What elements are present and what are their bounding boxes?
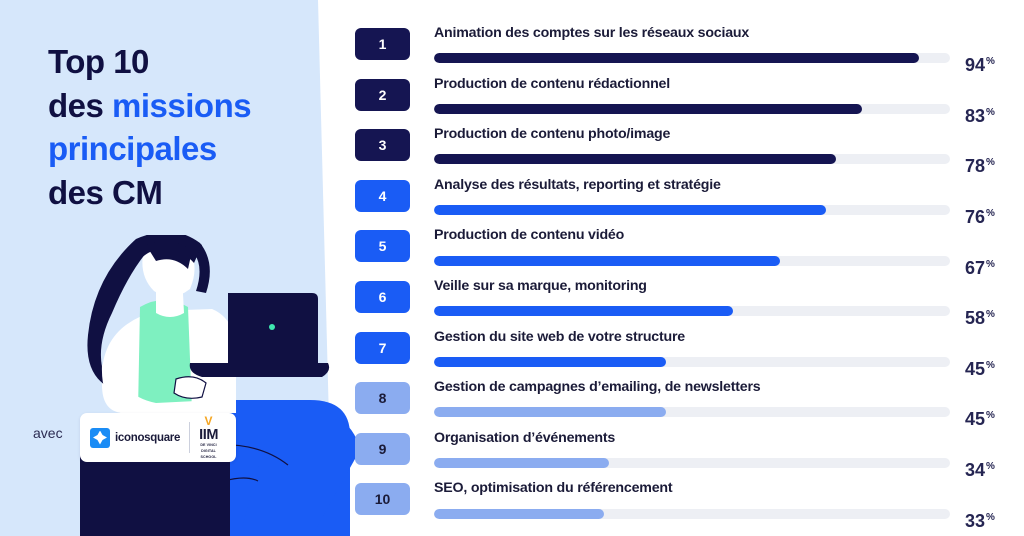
- rank-row: 5Production de contenu vidéo67%: [355, 222, 1024, 273]
- rank-badge: 2: [355, 79, 410, 111]
- percent-symbol: %: [986, 360, 995, 371]
- bar-track: [434, 509, 950, 519]
- bar-track: [434, 306, 950, 316]
- title-line-3: principales: [48, 127, 318, 171]
- bar-fill: [434, 205, 826, 215]
- bar-fill: [434, 53, 919, 63]
- title-line-4-text: des CM: [48, 174, 162, 211]
- rank-label: Organisation d’événements: [434, 425, 1024, 445]
- title-line-3-accent: principales: [48, 130, 217, 167]
- rank-label: SEO, optimisation du référencement: [434, 475, 1024, 495]
- bar-fill: [434, 306, 733, 316]
- logo-divider: [189, 422, 190, 453]
- rank-label: Veille sur sa marque, monitoring: [434, 273, 1024, 293]
- bar-track: [434, 357, 950, 367]
- rank-body: Production de contenu rédactionnel83%: [434, 71, 1024, 118]
- rank-label: Analyse des résultats, reporting et stra…: [434, 172, 1024, 192]
- rank-row: 2Production de contenu rédactionnel83%: [355, 71, 1024, 122]
- bar-area: 45%: [434, 353, 1024, 371]
- bar-track: [434, 154, 950, 164]
- percent-symbol: %: [986, 208, 995, 219]
- percent-symbol: %: [986, 56, 995, 67]
- title-line-1-text: Top 10: [48, 43, 149, 80]
- infographic-root: Top 10 des missions principales des CM: [0, 0, 1024, 536]
- iim-tagline-line-3: SCHOOL: [199, 455, 218, 460]
- iim-logo: V IIM DE VINCI DIGITAL SCHOOL: [199, 415, 226, 460]
- rank-body: Organisation d’événements34%: [434, 425, 1024, 472]
- rank-row: 9Organisation d’événements34%: [355, 425, 1024, 476]
- bar-fill: [434, 357, 666, 367]
- bar-area: 34%: [434, 454, 1024, 472]
- bar-fill: [434, 407, 666, 417]
- bar-track: [434, 458, 950, 468]
- bar-track: [434, 407, 950, 417]
- rank-label: Production de contenu photo/image: [434, 121, 1024, 141]
- percent-symbol: %: [986, 157, 995, 168]
- percentage-value: 33%: [965, 512, 995, 530]
- rank-body: Gestion du site web de votre structure45…: [434, 324, 1024, 371]
- bar-track: [434, 256, 950, 266]
- bar-area: 78%: [434, 150, 1024, 168]
- rank-row: 4Analyse des résultats, reporting et str…: [355, 172, 1024, 223]
- bar-fill: [434, 104, 862, 114]
- title-line-1: Top 10: [48, 40, 318, 84]
- rank-label: Production de contenu vidéo: [434, 222, 1024, 242]
- rank-row: 6Veille sur sa marque, monitoring58%: [355, 273, 1024, 324]
- rank-badge: 1: [355, 28, 410, 60]
- rank-badge: 3: [355, 129, 410, 161]
- ranking-list: 1Animation des comptes sur les réseaux s…: [355, 0, 1024, 536]
- percent-symbol: %: [986, 410, 995, 421]
- percentage-number: 33: [965, 511, 985, 531]
- title-line-2: des missions: [48, 84, 318, 128]
- bar-area: 45%: [434, 403, 1024, 421]
- iconosquare-mark-icon: [90, 428, 110, 448]
- rank-body: Analyse des résultats, reporting et stra…: [434, 172, 1024, 219]
- bar-fill: [434, 509, 604, 519]
- iconosquare-logo: iconosquare: [80, 428, 180, 448]
- rank-badge: 6: [355, 281, 410, 313]
- iim-tagline-line-2: DIGITAL: [199, 449, 218, 454]
- rank-badge: 5: [355, 230, 410, 262]
- iconosquare-wordmark: iconosquare: [115, 432, 180, 444]
- rank-badge: 7: [355, 332, 410, 364]
- bar-area: 67%: [434, 252, 1024, 270]
- rank-row: 10SEO, optimisation du référencement33%: [355, 475, 1024, 526]
- bar-fill: [434, 154, 836, 164]
- rank-label: Gestion du site web de votre structure: [434, 324, 1024, 344]
- rank-badge: 10: [355, 483, 410, 515]
- percent-symbol: %: [986, 309, 995, 320]
- rank-body: SEO, optimisation du référencement33%: [434, 475, 1024, 522]
- rank-row: 1Animation des comptes sur les réseaux s…: [355, 20, 1024, 71]
- partner-logo-card: iconosquare V IIM DE VINCI DIGITAL SCHOO…: [80, 413, 236, 462]
- iim-wordmark: IIM: [199, 428, 218, 443]
- rank-badge: 9: [355, 433, 410, 465]
- title-line-2-accent: missions: [112, 87, 251, 124]
- bar-track: [434, 53, 950, 63]
- bar-track: [434, 205, 950, 215]
- rank-badge: 4: [355, 180, 410, 212]
- title-line-4: des CM: [48, 171, 318, 215]
- rank-body: Veille sur sa marque, monitoring58%: [434, 273, 1024, 320]
- bar-area: 76%: [434, 201, 1024, 219]
- rank-body: Production de contenu vidéo67%: [434, 222, 1024, 269]
- percent-symbol: %: [986, 461, 995, 472]
- percent-symbol: %: [986, 259, 995, 270]
- iim-accent-icon: V: [199, 415, 218, 427]
- rank-body: Animation des comptes sur les réseaux so…: [434, 20, 1024, 67]
- bar-area: 58%: [434, 302, 1024, 320]
- rank-row: 8Gestion de campagnes d’emailing, de new…: [355, 374, 1024, 425]
- rank-body: Production de contenu photo/image78%: [434, 121, 1024, 168]
- bar-area: 33%: [434, 505, 1024, 523]
- rank-badge: 8: [355, 382, 410, 414]
- rank-label: Production de contenu rédactionnel: [434, 71, 1024, 91]
- bar-track: [434, 104, 950, 114]
- rank-row: 7Gestion du site web de votre structure4…: [355, 324, 1024, 375]
- bar-fill: [434, 458, 609, 468]
- title-line-2-plain: des: [48, 87, 112, 124]
- percent-symbol: %: [986, 512, 995, 523]
- rank-body: Gestion de campagnes d’emailing, de news…: [434, 374, 1024, 421]
- percent-symbol: %: [986, 107, 995, 118]
- iim-tagline-line-1: DE VINCI: [199, 443, 218, 448]
- bar-fill: [434, 256, 780, 266]
- bar-area: 94%: [434, 49, 1024, 67]
- bar-area: 83%: [434, 100, 1024, 118]
- avec-label: avec: [33, 425, 63, 441]
- rank-label: Gestion de campagnes d’emailing, de news…: [434, 374, 1024, 394]
- page-title: Top 10 des missions principales des CM: [48, 40, 318, 214]
- rank-row: 3Production de contenu photo/image78%: [355, 121, 1024, 172]
- rank-label: Animation des comptes sur les réseaux so…: [434, 20, 1024, 40]
